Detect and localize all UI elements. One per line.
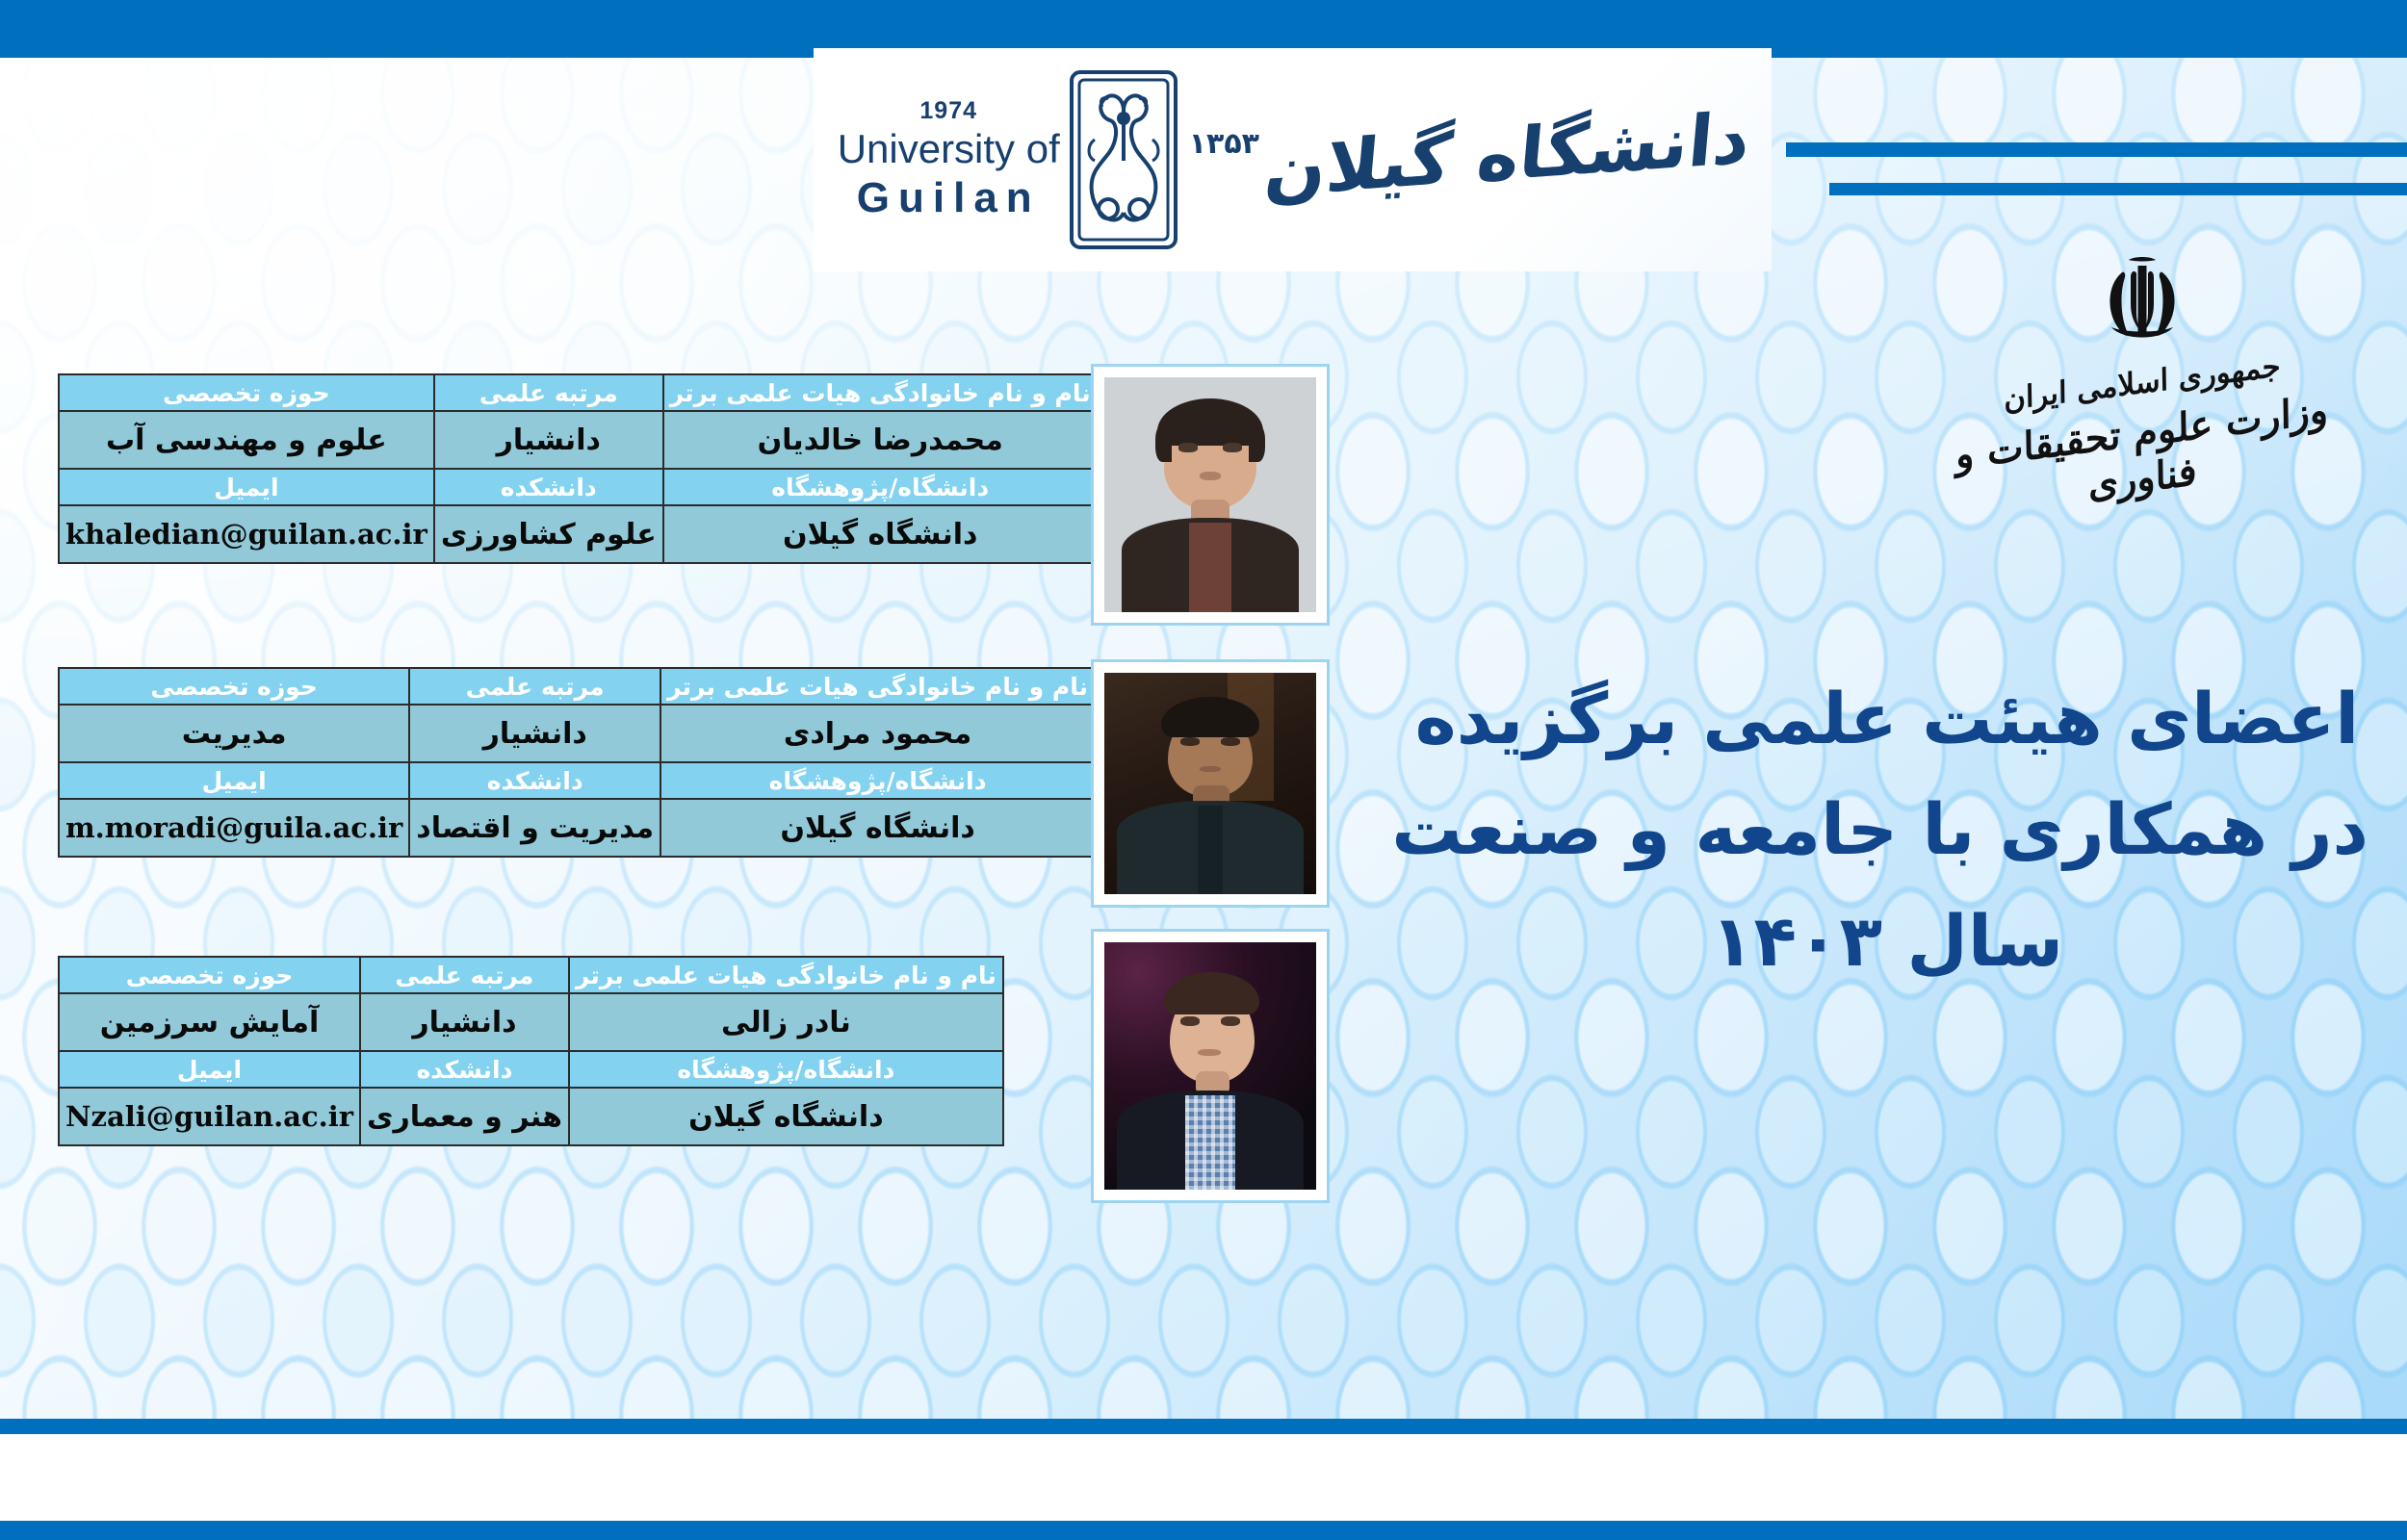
table-row: محمدرضا خالدیان دانشیار علوم و مهندسی آب — [59, 411, 1098, 469]
poster-title-line3: سال ۱۴۰۳ — [1406, 886, 2368, 997]
header-cell-institution: دانشگاه/پژوهشگاه — [660, 762, 1095, 799]
table-row: نام و نام خانوادگی هیات علمی برتر مرتبه … — [59, 668, 1095, 705]
cell-rank: دانشیار — [409, 705, 660, 762]
portrait-mohammadreza-khaledian — [1091, 364, 1330, 626]
header-cell-faculty: دانشکده — [360, 1051, 569, 1088]
header-cell-email: ایمیل — [59, 1051, 360, 1088]
iran-national-emblem-icon — [1911, 252, 2373, 360]
cell-institution: دانشگاه گیلان — [660, 799, 1095, 857]
portrait-mahmoud-moradi — [1091, 659, 1330, 908]
member-table-1: نام و نام خانوادگی هیات علمی برتر مرتبه … — [58, 373, 1099, 564]
cell-institution: دانشگاه گیلان — [663, 505, 1098, 563]
cell-field: مدیریت — [59, 705, 409, 762]
ministry-block: جمهوری اسلامی ایران وزارت علوم تحقیقات و… — [1911, 252, 2373, 500]
header-cell-email: ایمیل — [59, 469, 434, 505]
university-logo-banner: 1974 University of Guilan — [814, 48, 1772, 271]
decorative-bar-upper — [1786, 142, 2407, 157]
cell-faculty: علوم کشاورزی — [434, 505, 663, 563]
header-cell-institution: دانشگاه/پژوهشگاه — [569, 1051, 1003, 1088]
cell-faculty: مدیریت و اقتصاد — [409, 799, 660, 857]
poster-title-line2: در همکاری با جامعه و صنعت — [1406, 775, 2368, 885]
university-name-english-line2: Guilan — [838, 173, 1060, 223]
poster-canvas: 1974 University of Guilan — [0, 0, 2407, 1540]
header-cell-email: ایمیل — [59, 762, 409, 799]
bottom-white-band — [0, 1434, 2407, 1521]
header-cell-name: نام و نام خانوادگی هیات علمی برتر — [663, 374, 1098, 411]
cell-name: نادر زالی — [569, 993, 1003, 1051]
cell-field: علوم و مهندسی آب — [59, 411, 434, 469]
portrait-nader-zali — [1091, 929, 1330, 1203]
table-row: دانشگاه/پژوهشگاه دانشکده ایمیل — [59, 762, 1095, 799]
cell-faculty: هنر و معماری — [360, 1088, 569, 1145]
member-table-2: نام و نام خانوادگی هیات علمی برتر مرتبه … — [58, 667, 1096, 858]
university-name-english: 1974 University of Guilan — [838, 97, 1060, 223]
cell-rank: دانشیار — [434, 411, 663, 469]
header-cell-field: حوزه تخصصی — [59, 957, 360, 993]
poster-title: اعضای هیئت علمی برگزیده در همکاری با جام… — [1406, 664, 2368, 997]
cell-institution: دانشگاه گیلان — [569, 1088, 1003, 1145]
table-row: نادر زالی دانشیار آمایش سرزمین — [59, 993, 1003, 1051]
university-name-english-line1: University of — [838, 125, 1060, 173]
table-row: دانشگاه/پژوهشگاه دانشکده ایمیل — [59, 469, 1098, 505]
header-cell-name: نام و نام خانوادگی هیات علمی برتر — [569, 957, 1003, 993]
table-row: دانشگاه گیلان مدیریت و اقتصاد m.moradi@g… — [59, 799, 1095, 857]
cell-name: محمدرضا خالدیان — [663, 411, 1098, 469]
header-cell-faculty: دانشکده — [409, 762, 660, 799]
university-name-persian: دانشگاه گیلان — [1261, 97, 1753, 214]
bottom-thin-blue-bar — [0, 1419, 2407, 1434]
header-cell-field: حوزه تخصصی — [59, 374, 434, 411]
cell-field: آمایش سرزمین — [59, 993, 360, 1051]
header-cell-rank: مرتبه علمی — [360, 957, 569, 993]
member-table-3: نام و نام خانوادگی هیات علمی برتر مرتبه … — [58, 956, 1004, 1146]
header-cell-rank: مرتبه علمی — [409, 668, 660, 705]
table-row: دانشگاه/پژوهشگاه دانشکده ایمیل — [59, 1051, 1003, 1088]
table-row: دانشگاه گیلان هنر و معماری Nzali@guilan.… — [59, 1088, 1003, 1145]
header-cell-field: حوزه تخصصی — [59, 668, 409, 705]
founding-year-english: 1974 — [838, 97, 1060, 126]
header-cell-rank: مرتبه علمی — [434, 374, 663, 411]
header-cell-institution: دانشگاه/پژوهشگاه — [663, 469, 1098, 505]
header-cell-name: نام و نام خانوادگی هیات علمی برتر — [660, 668, 1095, 705]
guilan-university-emblem-icon — [1066, 68, 1181, 251]
table-row: دانشگاه گیلان علوم کشاورزی khaledian@gui… — [59, 505, 1098, 563]
founding-year-persian: ۱۳۵۳ — [1189, 127, 1259, 161]
header-cell-faculty: دانشکده — [434, 469, 663, 505]
cell-rank: دانشیار — [360, 993, 569, 1051]
table-row: محمود مرادی دانشیار مدیریت — [59, 705, 1095, 762]
cell-name: محمود مرادی — [660, 705, 1095, 762]
table-row: نام و نام خانوادگی هیات علمی برتر مرتبه … — [59, 374, 1098, 411]
table-row: نام و نام خانوادگی هیات علمی برتر مرتبه … — [59, 957, 1003, 993]
cell-email: khaledian@guilan.ac.ir — [59, 505, 434, 563]
decorative-bar-lower — [1829, 183, 2407, 195]
bottom-blue-bar — [0, 1521, 2407, 1540]
cell-email: Nzali@guilan.ac.ir — [59, 1088, 360, 1145]
poster-title-line1: اعضای هیئت علمی برگزیده — [1406, 664, 2368, 775]
cell-email: m.moradi@guila.ac.ir — [59, 799, 409, 857]
